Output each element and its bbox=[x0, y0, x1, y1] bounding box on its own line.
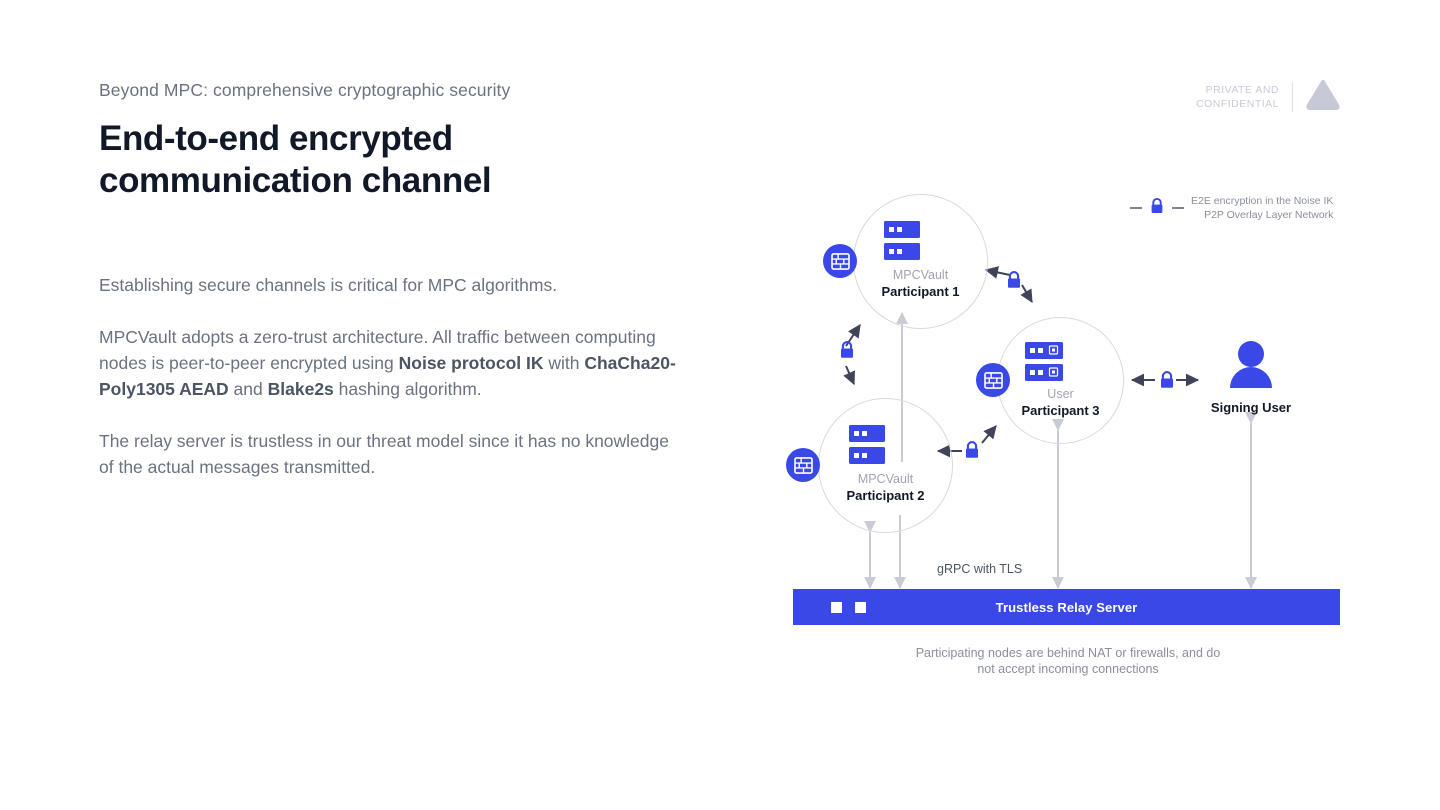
legend: E2E encryption in the Noise IK P2P Overl… bbox=[1130, 194, 1333, 222]
firewall-icon-participant-2 bbox=[786, 448, 820, 482]
triangle-logo-icon bbox=[1306, 78, 1340, 115]
node-participant-2[interactable]: MPCVault Participant 2 bbox=[818, 398, 953, 533]
term-noise-protocol: Noise protocol IK bbox=[399, 353, 544, 373]
node-participant-1-name: Participant 1 bbox=[821, 283, 1021, 300]
legend-label: E2E encryption in the Noise IK P2P Overl… bbox=[1191, 194, 1333, 222]
relay-window-dot bbox=[831, 602, 842, 613]
server-icon bbox=[847, 423, 887, 472]
trustless-relay-server-bar[interactable]: Trustless Relay Server bbox=[793, 589, 1340, 625]
arrow-p2-to-p3 bbox=[982, 426, 996, 443]
person-icon bbox=[1228, 340, 1274, 395]
padlock-icon-p2-p3 bbox=[963, 440, 981, 465]
grpc-label: gRPC with TLS bbox=[937, 562, 1022, 576]
term-blake2s: Blake2s bbox=[268, 379, 334, 399]
paragraph-3: The relay server is trustless in our thr… bbox=[99, 428, 679, 480]
architecture-diagram: E2E encryption in the Noise IK P2P Overl… bbox=[760, 170, 1380, 710]
legend-dash-right bbox=[1172, 207, 1184, 209]
server-icon bbox=[882, 219, 922, 268]
confidential-label: PRIVATE AND CONFIDENTIAL bbox=[1196, 83, 1279, 111]
arrow-p1-to-p2 bbox=[846, 366, 854, 384]
badge-divider bbox=[1292, 82, 1293, 112]
padlock-icon-p3-signing-user bbox=[1158, 370, 1176, 395]
arrow-p1-to-p3 bbox=[1022, 285, 1032, 302]
paragraph-2-text-4: hashing algorithm. bbox=[334, 379, 482, 399]
firewall-icon-participant-1 bbox=[823, 244, 857, 278]
firewall-icon-participant-3 bbox=[976, 363, 1010, 397]
paragraph-2-text-3: and bbox=[229, 379, 268, 399]
node-participant-3-name: Participant 3 bbox=[961, 402, 1161, 419]
paragraph-2: MPCVault adopts a zero-trust architectur… bbox=[99, 324, 679, 402]
slide-eyebrow: Beyond MPC: comprehensive cryptographic … bbox=[99, 80, 510, 101]
node-participant-1[interactable]: MPCVault Participant 1 bbox=[853, 194, 988, 329]
confidential-badge: PRIVATE AND CONFIDENTIAL bbox=[1196, 78, 1340, 115]
page-title: End-to-end encrypted communication chann… bbox=[99, 118, 719, 202]
diagram-caption: Participating nodes are behind NAT or fi… bbox=[858, 645, 1278, 677]
padlock-icon-p1-p2 bbox=[838, 340, 856, 365]
relay-server-title: Trustless Relay Server bbox=[793, 600, 1340, 615]
node-participant-3[interactable]: User Participant 3 bbox=[997, 317, 1124, 444]
padlock-icon bbox=[1149, 197, 1165, 220]
paragraph-2-text-2: with bbox=[544, 353, 585, 373]
relay-window-dot bbox=[855, 602, 866, 613]
relay-window-dots bbox=[831, 602, 866, 613]
paragraph-1: Establishing secure channels is critical… bbox=[99, 272, 679, 298]
node-participant-2-name: Participant 2 bbox=[786, 487, 986, 504]
body-copy: Establishing secure channels is critical… bbox=[99, 272, 679, 480]
server-cpu-icon bbox=[1023, 340, 1065, 389]
page-title-line-1: End-to-end encrypted bbox=[99, 118, 719, 160]
page-title-line-2: communication channel bbox=[99, 160, 719, 202]
legend-dash-left bbox=[1130, 207, 1142, 209]
signing-user-label: Signing User bbox=[1171, 400, 1331, 415]
